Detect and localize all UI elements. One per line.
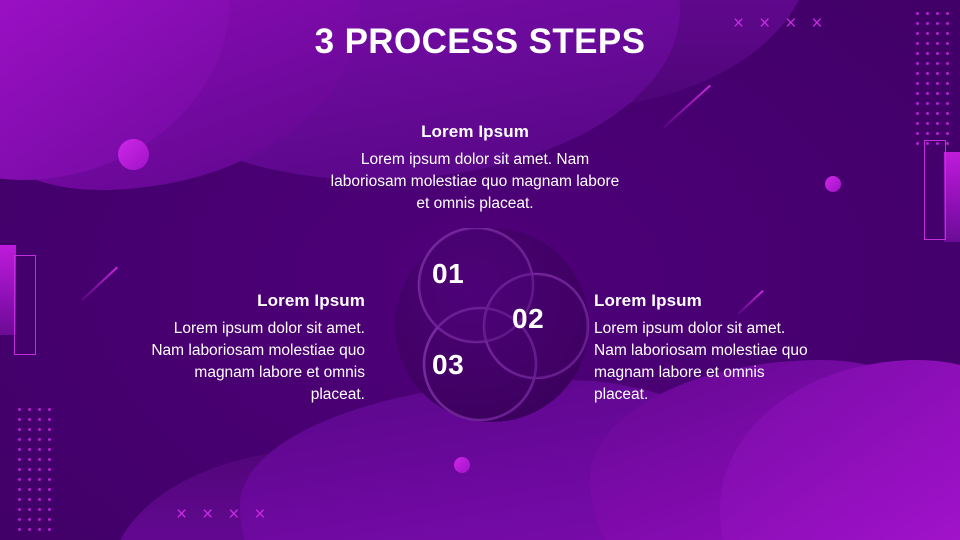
grid-dot [28,468,31,471]
grid-dot [28,478,31,481]
grid-dot [946,72,949,75]
grid-dot [926,132,929,135]
x-mark-icon: × [176,505,187,524]
grid-dot [936,142,939,145]
grid-dot [28,508,31,511]
step-body-right: Lorem ipsum dolor sit amet. Nam laborios… [594,318,812,406]
grid-dot [48,478,51,481]
grid-dot [946,102,949,105]
rectangle-outline-left [14,255,36,355]
decorative-dot-left [118,139,149,170]
grid-dot [38,508,41,511]
grid-dot [916,62,919,65]
grid-dot [946,62,949,65]
grid-dot [48,508,51,511]
dot-grid-bottom-left [18,408,51,531]
grid-dot [18,488,21,491]
grid-dot [28,488,31,491]
x-marks-bottom-left: × × × × [176,505,265,524]
grid-dot [38,478,41,481]
grid-dot [936,112,939,115]
grid-dot [38,468,41,471]
grid-dot [18,448,21,451]
grid-dot [38,528,41,531]
grid-dot [18,478,21,481]
grid-dot [18,508,21,511]
grid-dot [48,518,51,521]
step-number-03: 03 [432,349,464,381]
step-body-top: Lorem ipsum dolor sit amet. Nam laborios… [330,149,620,215]
step-block-top: Lorem Ipsum Lorem ipsum dolor sit amet. … [330,122,620,215]
grid-dot [38,458,41,461]
grid-dot [28,498,31,501]
grid-dot [926,122,929,125]
grid-dot [916,102,919,105]
grid-dot [38,448,41,451]
rectangle-filled-left [0,245,16,335]
grid-dot [916,142,919,145]
grid-dot [48,438,51,441]
grid-dot [38,518,41,521]
grid-dot [926,62,929,65]
diagonal-line-left [81,266,117,300]
grid-dot [946,142,949,145]
step-body-left: Lorem ipsum dolor sit amet. Nam laborios… [147,318,365,406]
grid-dot [48,428,51,431]
step-block-left: Lorem Ipsum Lorem ipsum dolor sit amet. … [147,291,365,406]
grid-dot [916,112,919,115]
grid-dot [28,528,31,531]
grid-dot [936,72,939,75]
grid-dot [18,428,21,431]
step-block-right: Lorem Ipsum Lorem ipsum dolor sit amet. … [594,291,812,406]
grid-dot [18,468,21,471]
grid-dot [916,82,919,85]
grid-dot [946,92,949,95]
grid-dot [946,112,949,115]
grid-dot [936,132,939,135]
grid-dot [48,488,51,491]
grid-dot [48,448,51,451]
grid-dot [926,82,929,85]
grid-dot [916,92,919,95]
step-heading-right: Lorem Ipsum [594,291,812,311]
grid-dot [28,448,31,451]
grid-dot [18,518,21,521]
grid-dot [916,12,919,15]
grid-dot [946,82,949,85]
page-title: 3 PROCESS STEPS [0,22,960,62]
grid-dot [936,92,939,95]
rectangle-outline-right [924,140,946,240]
grid-dot [38,428,41,431]
grid-dot [936,102,939,105]
grid-dot [48,458,51,461]
grid-dot [38,438,41,441]
grid-dot [48,418,51,421]
rectangle-filled-right [944,152,960,242]
grid-dot [916,132,919,135]
grid-dot [28,438,31,441]
grid-dot [48,468,51,471]
grid-dot [926,112,929,115]
grid-dot [28,518,31,521]
step-heading-top: Lorem Ipsum [330,122,620,142]
grid-dot [926,102,929,105]
decorative-dot-right [825,176,841,192]
x-mark-icon: × [254,505,265,524]
grid-dot [936,82,939,85]
grid-dot [926,72,929,75]
grid-dot [936,12,939,15]
grid-dot [916,122,919,125]
grid-dot [28,458,31,461]
step-heading-left: Lorem Ipsum [147,291,365,311]
grid-dot [38,498,41,501]
slide-canvas: × × × × × × × × 3 PROCESS STEPS Lorem Ip… [0,0,960,540]
grid-dot [28,408,31,411]
grid-dot [28,418,31,421]
grid-dot [38,418,41,421]
grid-dot [936,122,939,125]
step-number-02: 02 [512,303,544,335]
x-mark-icon: × [228,505,239,524]
grid-dot [18,418,21,421]
x-mark-icon: × [202,505,213,524]
grid-dot [18,438,21,441]
grid-dot [926,142,929,145]
step-number-01: 01 [432,258,464,290]
grid-dot [18,408,21,411]
grid-dot [38,488,41,491]
grid-dot [38,408,41,411]
grid-dot [48,498,51,501]
grid-dot [926,92,929,95]
grid-dot [946,122,949,125]
grid-dot [18,498,21,501]
decorative-dot-bottom [454,457,470,473]
blob-bottom-right-4 [110,450,530,540]
grid-dot [28,428,31,431]
diagonal-line-top-right [663,85,710,128]
grid-dot [18,458,21,461]
grid-dot [916,72,919,75]
grid-dot [926,12,929,15]
process-circle-diagram: 01 02 03 [376,228,608,423]
grid-dot [48,408,51,411]
grid-dot [946,132,949,135]
grid-dot [48,528,51,531]
grid-dot [18,528,21,531]
grid-dot [946,12,949,15]
grid-dot [936,62,939,65]
